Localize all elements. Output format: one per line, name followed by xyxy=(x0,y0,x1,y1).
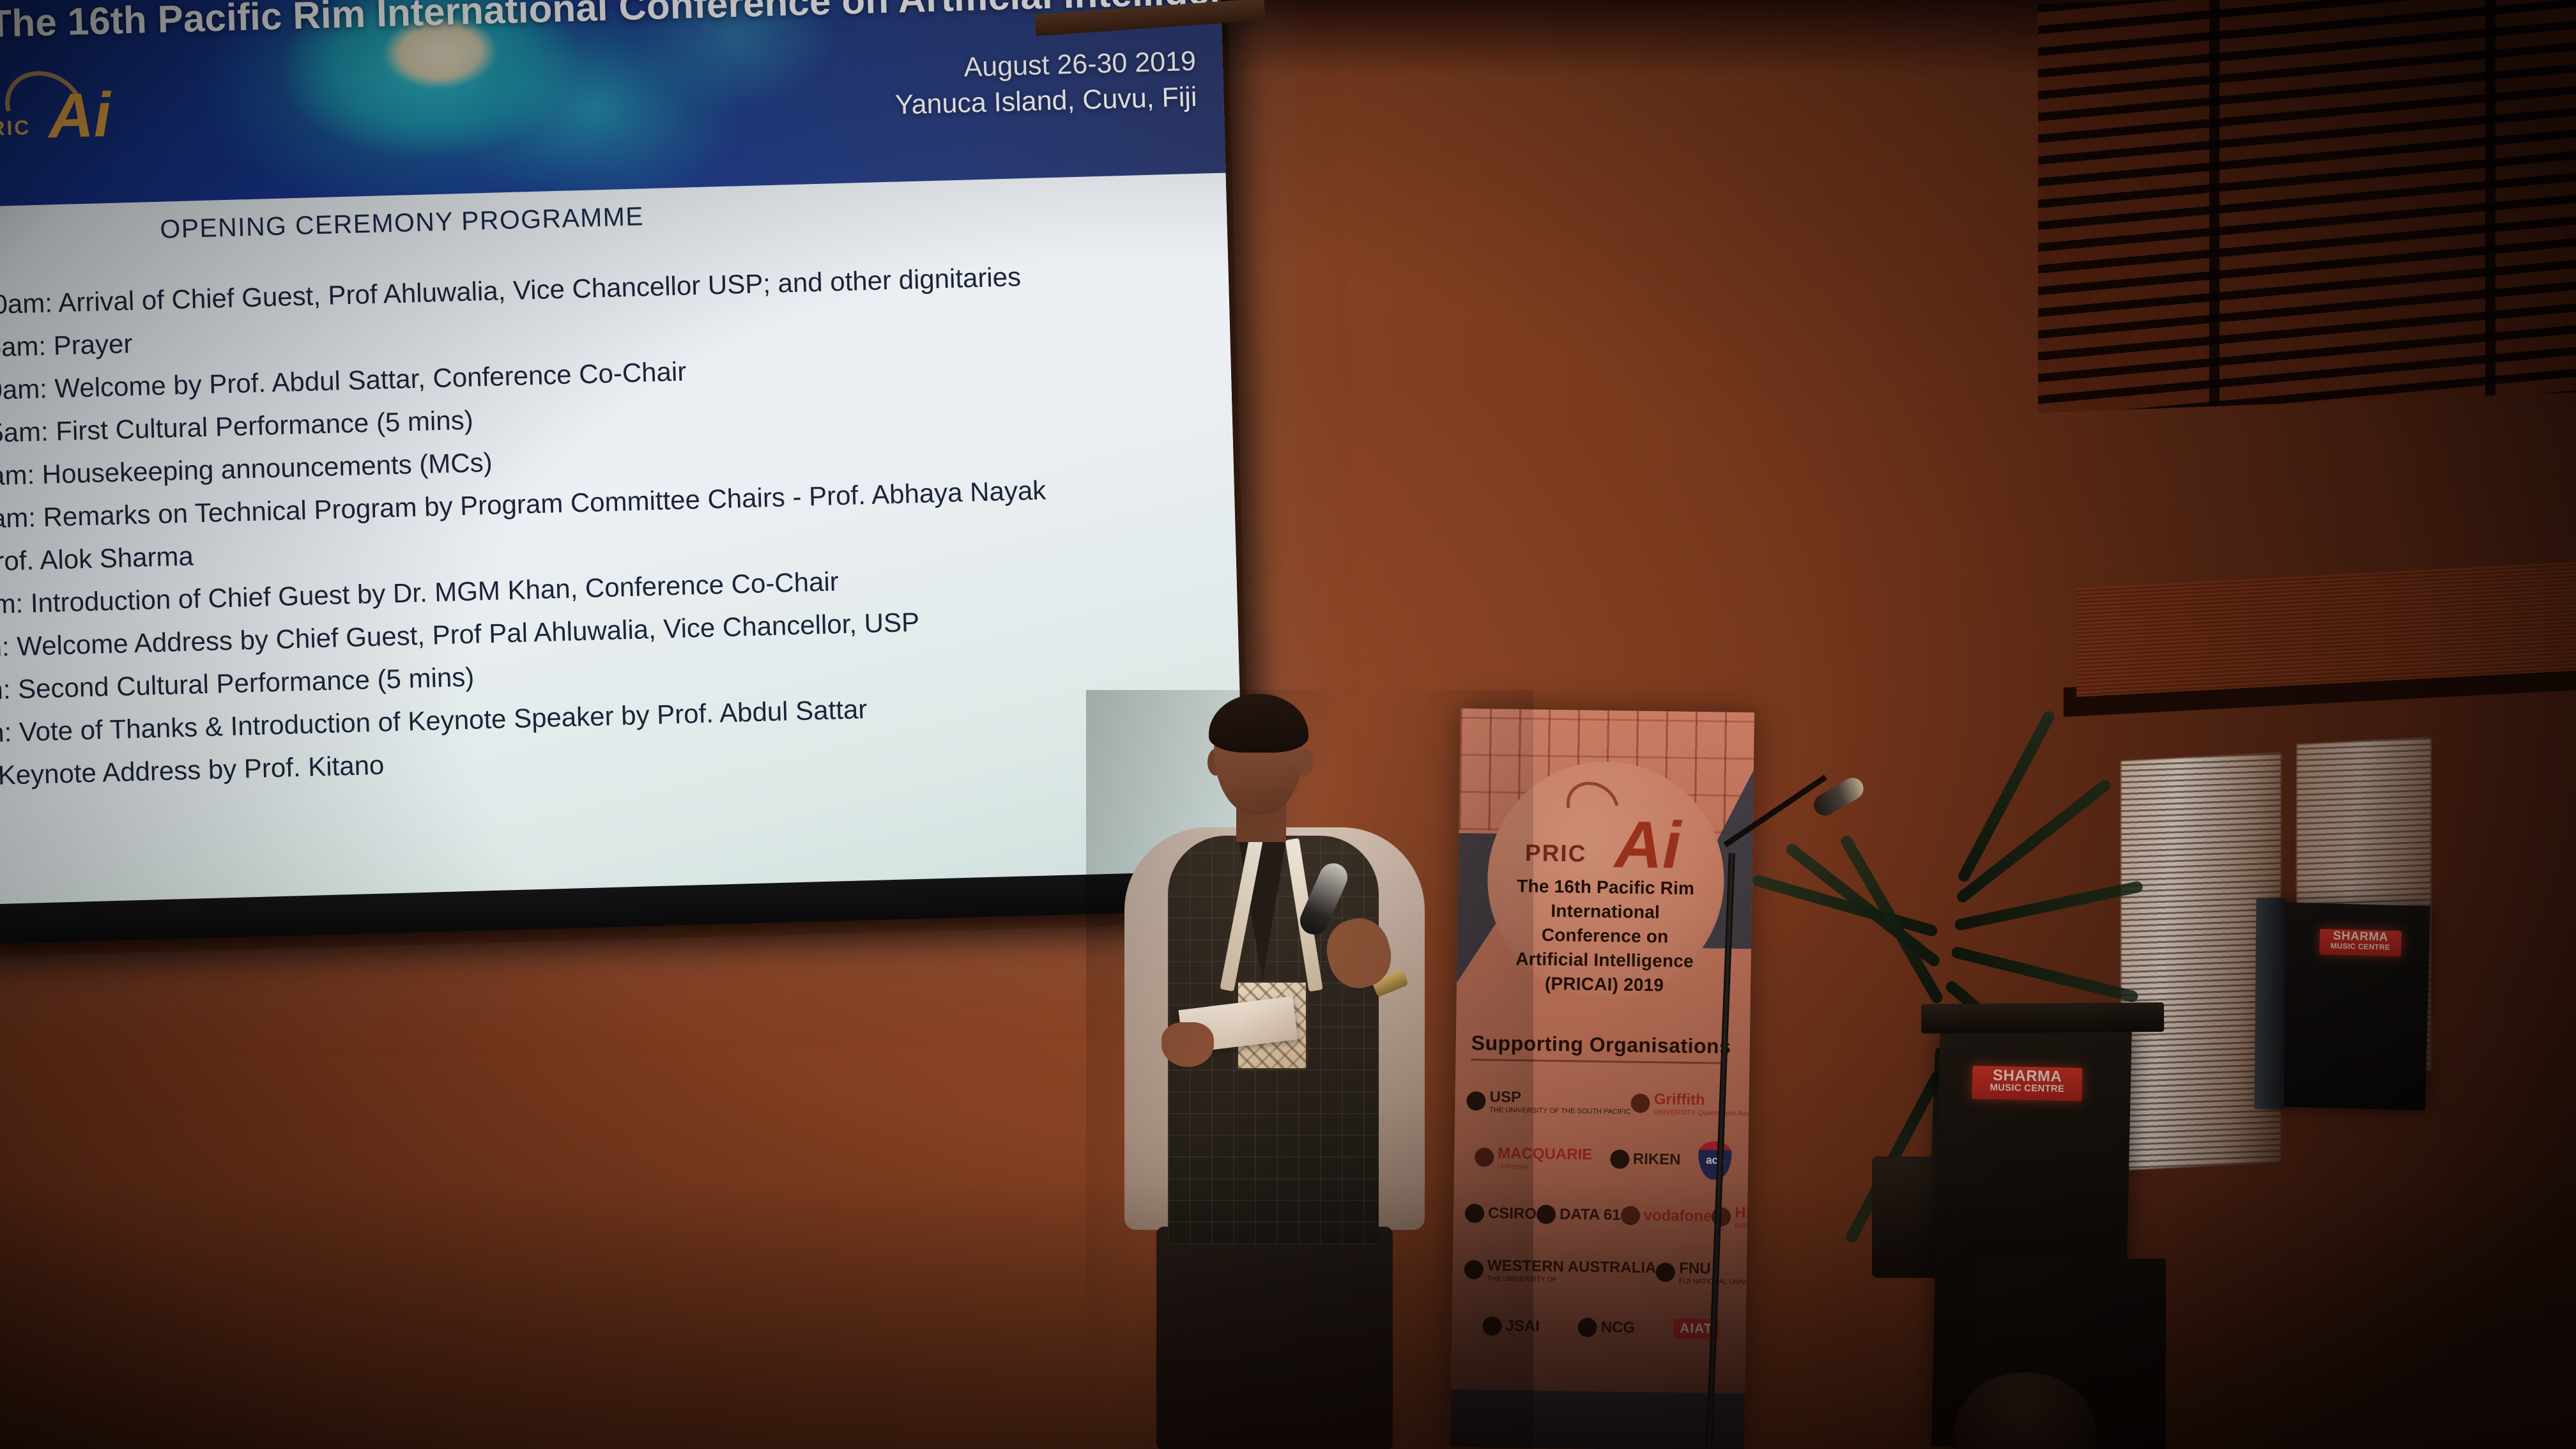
pricai-wordmark: PRIC xyxy=(0,116,31,141)
supporter-logo-acs: acs xyxy=(1698,1141,1732,1180)
photograph-scene: The 16th Pacific Rim International Confe… xyxy=(0,0,2576,1449)
supporter-logo-text: GriffithUNIVERSITY Queensland Australia xyxy=(1653,1091,1754,1117)
podium-sign-line-1: SHARMA xyxy=(1972,1067,2082,1085)
projection-screen: The 16th Pacific Rim International Confe… xyxy=(0,0,1252,956)
podium-sign-line-2: MUSIC CENTRE xyxy=(1972,1083,2082,1095)
supporter-logo: GriffithUNIVERSITY Queensland Australia xyxy=(1630,1091,1754,1118)
palm-frond xyxy=(1951,946,2139,1003)
supporter-logo-mark-icon xyxy=(1610,1149,1629,1169)
cabinet-sign-line-2: MUSIC CENTRE xyxy=(2319,942,2401,953)
podium-top-surface xyxy=(1921,1002,2164,1034)
pa-speaker-cabinet: SHARMA MUSIC CENTRE xyxy=(2265,902,2430,1110)
supporter-logo-text: RIKEN xyxy=(1633,1151,1681,1169)
programme-list: :30am: Arrival of Chief Guest, Prof Ahlu… xyxy=(0,250,1236,801)
pricai-logo: PRIC Ai xyxy=(0,67,133,167)
cabinet-side-panel xyxy=(2255,898,2286,1109)
cabinet-sharma-music-centre-sign: SHARMA MUSIC CENTRE xyxy=(2319,929,2402,956)
banner-pricai-ai-mark: Ai xyxy=(1614,811,1681,878)
slide-subtitle: OPENING CEREMONY PROGRAMME xyxy=(160,201,645,244)
banner-pricai-wordmark: PRIC xyxy=(1525,839,1587,867)
supporter-logo: RIKEN xyxy=(1610,1149,1681,1170)
supporter-logo-mark-icon xyxy=(1631,1094,1650,1113)
presentation-slide: The 16th Pacific Rim International Confe… xyxy=(0,0,1245,912)
podium-sharma-music-centre-sign: SHARMA MUSIC CENTRE xyxy=(1972,1066,2082,1101)
slide-date-location: August 26-30 2019 Yanuca Island, Cuvu, F… xyxy=(786,43,1197,126)
pricai-ai-mark: Ai xyxy=(47,83,112,148)
screen-surface: The 16th Pacific Rim International Confe… xyxy=(0,0,1246,944)
palm-frond xyxy=(1839,834,1945,1006)
presenter-left-hand xyxy=(1161,1022,1214,1067)
wooden-window-blinds xyxy=(2038,0,2576,413)
presenter-hair xyxy=(1209,694,1308,753)
supporter-logo-subtext: UNIVERSITY Queensland Australia xyxy=(1653,1108,1754,1117)
floor-shadow xyxy=(0,1181,2576,1449)
